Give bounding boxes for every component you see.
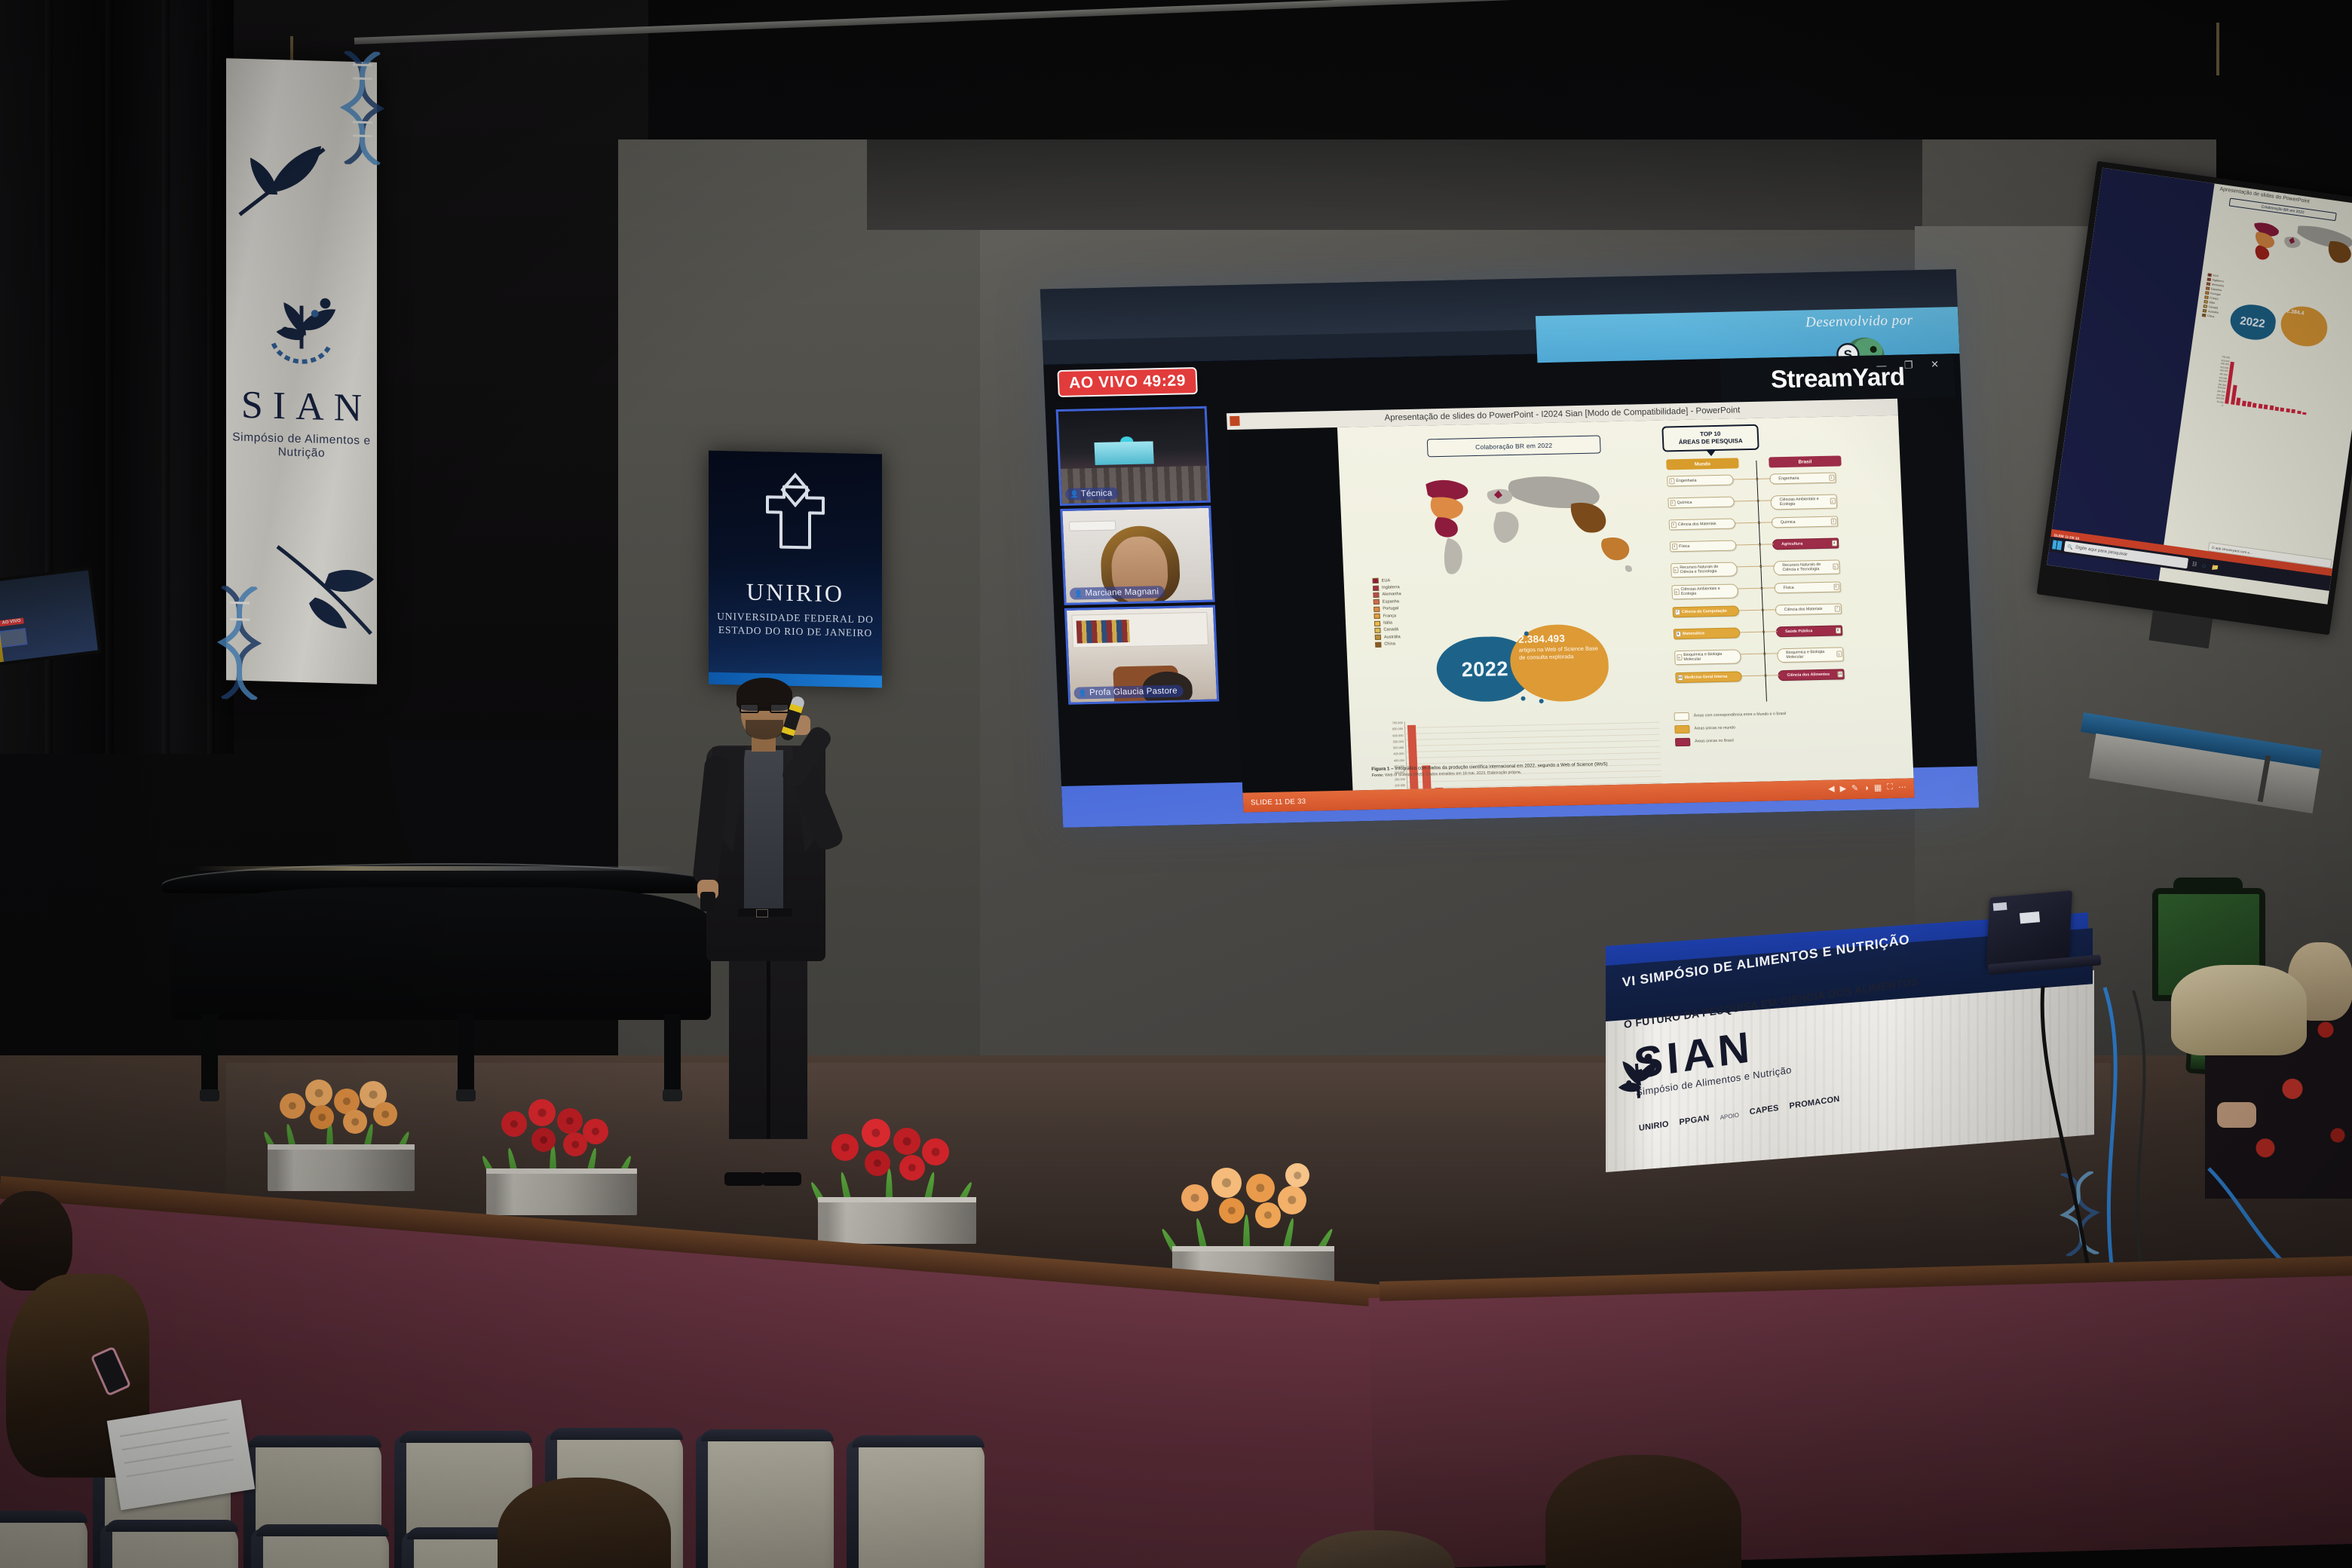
flow-node-rank: 4 — [1831, 541, 1836, 547]
flow-node-label: Ciência dos Materiais — [1678, 522, 1717, 527]
prev-slide-icon[interactable]: ◀ — [1828, 784, 1835, 794]
live-status-badge: AO VIVO 49:29 — [1057, 367, 1197, 397]
flow-link-left — [1739, 610, 1763, 611]
unirio-line2: ESTADO DO RIO DE JANEIRO — [709, 624, 882, 640]
flow-node-brasil: 7Ciência dos Materiais — [1775, 603, 1842, 615]
audience-head-right — [2171, 965, 2307, 1055]
flow-node-mundo: 1Engenharia — [1667, 475, 1734, 487]
flow-link-left — [1735, 501, 1759, 501]
armchair-crest — [2173, 877, 2243, 891]
flow-node-label: Ciência dos Materiais — [1784, 607, 1823, 612]
flow-node-label: Física — [1679, 544, 1689, 550]
article-count-blob: 2.384.493 artigos na Web of Science Base… — [1508, 623, 1609, 703]
piano-leg — [458, 1014, 474, 1092]
flow-node-rank: 9 — [1677, 654, 1682, 660]
flow-node-rank: 1 — [1669, 478, 1674, 484]
auditorium-seat[interactable] — [852, 1440, 985, 1568]
flow-node-label: Matemática — [1683, 631, 1704, 636]
planter-pot — [486, 1168, 637, 1215]
powerpoint-left-matte — [1227, 427, 1353, 793]
flow-node-label: Ciências Ambientais e Ecologia — [1779, 497, 1829, 507]
flower-planter-orange-1 — [268, 1070, 415, 1191]
audience-head-bottom-2 — [1545, 1455, 1741, 1568]
unirio-line1: UNIVERSIDADE FEDERAL DO — [709, 611, 882, 626]
flow-node-rank: 8 — [1835, 627, 1840, 633]
flow-node-label: Recursos Naturais de Ciência e Tecnologi… — [1782, 562, 1832, 573]
piano-case — [171, 887, 711, 1020]
legend-country: Itália — [2209, 301, 2215, 305]
grid-view-icon[interactable]: ▦ — [1874, 782, 1882, 792]
world-map-graphic — [1398, 460, 1644, 590]
flow-link-left — [1733, 479, 1757, 479]
confidence-monitor-left: AO VIVO — [0, 567, 101, 666]
next-slide-icon[interactable]: ▶ — [1839, 783, 1846, 793]
fullscreen-icon[interactable]: ⛶ — [1887, 782, 1893, 792]
stage-apron-right — [1368, 1272, 2352, 1568]
secondary-monitor-screen: Apresentação de slides do PowerPoint Col… — [2047, 168, 2352, 605]
piano-caster — [663, 1089, 682, 1101]
bar — [2259, 403, 2263, 409]
bar — [2302, 412, 2306, 415]
sian-banner-acronym: SIAN — [226, 382, 377, 431]
projection-screen-tripod — [2081, 596, 2329, 814]
bar — [2274, 406, 2279, 411]
auditorium-seat[interactable] — [256, 1529, 389, 1568]
bar — [2291, 409, 2295, 413]
powerpoint-app-icon — [1230, 416, 1240, 426]
flower-planter-red-1 — [486, 1095, 637, 1215]
sian-banner-subtitle: Simpósio de Alimentos e Nutrição — [226, 430, 377, 462]
flow-link-left — [1741, 675, 1766, 676]
presenter-clicker[interactable] — [700, 892, 715, 911]
flow-node-label: Engenharia — [1778, 476, 1799, 481]
auditorium-seat[interactable] — [106, 1524, 238, 1568]
legend-country: Austrália — [1384, 635, 1401, 639]
flow-column-header-mundo: Mundo — [1666, 458, 1739, 470]
flow-link-left — [1738, 588, 1762, 589]
window-controls[interactable]: — ❐ ✕ — [1876, 358, 1946, 372]
leaf-branch-icon-bottom — [273, 542, 378, 643]
legend-country: Inglaterra — [1382, 585, 1400, 590]
secondary-count-number: 2.384.4 — [2286, 308, 2326, 320]
speaker-beard — [746, 720, 783, 740]
bar — [1407, 725, 1419, 791]
flow-legend-label: Áreas únicas no mundo — [1694, 726, 1735, 732]
map-country-legend: EUA Inglaterra Alemanha Espanha Portugal… — [1372, 576, 1431, 648]
flow-node-mundo: 7Ciência da Computação — [1673, 605, 1740, 617]
participant-name-label: Técnica — [1065, 487, 1119, 501]
pen-icon[interactable]: ✎ — [1851, 783, 1859, 793]
planter-pot — [268, 1144, 415, 1191]
slide-canvas: Colaboração BR em 2022 TOP 10 ÁREAS DE P… — [1337, 415, 1914, 791]
flow-node-label: Engenharia — [1676, 478, 1696, 483]
piano-caster — [456, 1089, 476, 1101]
edge-browser-icon[interactable]: ◌ — [2202, 562, 2207, 570]
secondary-bar-series — [2225, 359, 2343, 419]
back-wall-upper-band — [867, 139, 1922, 230]
piano-leg — [201, 1014, 218, 1092]
top10-line1: TOP 10 — [1700, 430, 1721, 439]
flow-node-label: Ciência da Computação — [1682, 609, 1727, 615]
top10-line2: ÁREAS DE PESQUISA — [1679, 437, 1743, 446]
bar — [2236, 397, 2240, 406]
flow-node-rank: 4 — [1671, 544, 1677, 550]
flow-spine — [1756, 461, 1767, 702]
participant-name-label: Profa Glaucia Pastore — [1073, 684, 1184, 699]
flow-node-brasil: 1Engenharia — [1769, 473, 1836, 485]
flow-node-brasil: 2Ciências Ambientais e Ecologia — [1770, 495, 1837, 510]
flow-node-rank: 10 — [1837, 671, 1842, 677]
flow-node-rank: 9 — [1836, 651, 1842, 657]
piano-caster — [200, 1089, 219, 1101]
flow-node-rank: 6 — [1674, 589, 1679, 595]
article-count-text: artigos na Web of Science Base de consul… — [1519, 645, 1600, 661]
speaker-shoe-left — [724, 1172, 764, 1186]
flow-node-brasil: 6Física — [1774, 581, 1841, 593]
task-view-icon[interactable]: ☷ — [2192, 561, 2197, 568]
source-label: Fonte: — [1372, 773, 1384, 778]
windows-start-icon[interactable] — [2052, 540, 2063, 550]
flow-node-mundo: 3Ciência dos Materiais — [1669, 518, 1736, 530]
flow-node-rank: 7 — [1834, 605, 1839, 611]
powerpoint-presenter-controls[interactable]: ◀ ▶ ✎ ◑ ▦ ⛶ ⋯ — [1828, 782, 1906, 794]
search-placeholder: Digite aqui para pesquisar — [2075, 546, 2128, 558]
bar — [2297, 411, 2301, 414]
flow-node-rank: 1 — [1829, 475, 1834, 481]
slide-header-left: Colaboração BR em 2022 — [1427, 435, 1601, 457]
sian-hanging-banner: SIAN Simpósio de Alimentos e Nutrição — [226, 58, 377, 684]
flow-node-label: Medicina Geral Interna — [1684, 675, 1727, 681]
more-options-icon[interactable]: ⋯ — [1898, 782, 1907, 792]
powerpoint-slide-counter: SLIDE 11 DE 33 — [1251, 797, 1306, 807]
speaker-shoe-right — [762, 1172, 801, 1186]
flow-node-brasil: 3Química — [1772, 516, 1839, 528]
sian-plant-logo-icon — [257, 285, 346, 376]
unirio-acronym: UNIRIO — [709, 577, 882, 609]
country-bar-chart: 700.000 650.000 600.000 550.000 500.000 … — [1380, 716, 1664, 791]
flow-node-label: Bioquímica e Biologia Molecular — [1683, 652, 1733, 663]
shared-powerpoint-window[interactable]: Apresentação de slides do PowerPoint - I… — [1227, 399, 1915, 813]
flow-node-rank: 6 — [1833, 583, 1839, 590]
confidence-participant-tile — [0, 628, 27, 648]
bar — [2269, 406, 2274, 410]
search-icon: 🔍 — [2067, 544, 2073, 550]
grand-piano — [162, 863, 720, 1089]
flow-node-rank: 8 — [1675, 631, 1680, 637]
caption-label: Figura 1 – — [1371, 766, 1394, 772]
flow-node-label: Ciência dos Alimentos — [1787, 672, 1830, 678]
streamyard-credit-label: Desenvolvido por — [1805, 312, 1914, 331]
flower-planter-red-2 — [818, 1116, 976, 1244]
bar — [2247, 402, 2252, 407]
bar-chart-y-axis: 700.000 650.000 600.000 550.000 500.000 … — [1380, 721, 1407, 790]
flow-node-label: Física — [1783, 586, 1793, 591]
flow-node-brasil: 9Bioquímica e Biologia Molecular — [1777, 647, 1844, 663]
flow-node-rank: 2 — [1830, 498, 1835, 504]
legend-country: China — [1384, 642, 1395, 647]
flow-node-mundo: 2Química — [1668, 497, 1735, 509]
flow-link-left — [1740, 632, 1764, 632]
piano-leg — [664, 1014, 681, 1092]
flow-node-label: Química — [1677, 501, 1692, 506]
speaker-shirt — [744, 750, 783, 908]
flowchart-legend: Áreas com correspondência entre o Mundo … — [1674, 709, 1811, 751]
flow-node-brasil: 4Agricultura — [1772, 537, 1839, 550]
secondary-year-blob: 2022 — [2228, 302, 2277, 342]
planter-pot — [818, 1197, 976, 1244]
contrast-icon[interactable]: ◑ — [1864, 783, 1869, 792]
bar — [2264, 405, 2268, 410]
bar — [2242, 400, 2246, 406]
legend-country: Espanha — [1383, 599, 1399, 604]
unirio-logo-icon — [751, 468, 840, 577]
flow-node-label: Saúde Pública — [1785, 629, 1812, 634]
flow-legend-label: Áreas com correspondência entre o Mundo … — [1694, 712, 1787, 718]
participant-tile-glaucia[interactable]: Profa Glaucia Pastore — [1064, 605, 1219, 705]
legend-country: Portugal — [1383, 606, 1398, 611]
auditorium-scene: SIAN Simpósio de Alimentos e Nutrição UN… — [0, 0, 2352, 1568]
laptop-sticker-2 — [2020, 911, 2040, 923]
streamyard-word-stream: Stream — [1770, 363, 1853, 393]
flow-column-header-brasil: Brasil — [1769, 455, 1842, 467]
taskbar-icon-group[interactable]: ☷ ◌ 📁 — [2191, 560, 2219, 571]
laptop-sticker — [1993, 902, 2007, 911]
bar — [2252, 403, 2257, 408]
flow-node-rank: 5 — [1833, 564, 1838, 570]
leaf-branch-icon-top — [234, 130, 332, 223]
dna-helix-icon-lower — [213, 586, 267, 700]
flow-node-brasil: 5Recursos Naturais de Ciência e Tecnolog… — [1773, 559, 1840, 575]
auditorium-seat[interactable] — [701, 1434, 834, 1568]
flow-node-mundo: 6Ciências Ambientais e Ecologia — [1671, 583, 1738, 599]
flow-node-mundo: 8Matemática — [1674, 627, 1741, 639]
flow-link-left — [1736, 544, 1760, 545]
bar-series — [1407, 715, 1663, 791]
flow-node-brasil: 10Ciência dos Alimentos — [1778, 669, 1845, 681]
secondary-count-blob: 2.384.4 — [2278, 304, 2330, 349]
flow-node-mundo: 5Recursos Naturais de Ciência e Tecnolog… — [1671, 562, 1738, 577]
legend-country: Canadá — [1383, 628, 1398, 632]
legend-country: EUA — [1382, 578, 1391, 583]
flow-node-rank: 5 — [1673, 567, 1678, 573]
bar-chart-plot — [1404, 716, 1663, 791]
participant-name-label: Marciane Magnani — [1070, 586, 1165, 600]
projection-screen: Desenvolvido por S StreamYard — ❐ ✕ AO V… — [1040, 269, 1980, 828]
flow-node-mundo: 4Física — [1670, 540, 1737, 552]
unirio-banner: UNIRIO UNIVERSIDADE FEDERAL DO ESTADO DO… — [709, 451, 882, 688]
bar — [2280, 407, 2285, 412]
auditorium-seat[interactable] — [0, 1515, 87, 1568]
confidence-monitor-screen — [0, 570, 98, 662]
flow-node-label: Química — [1781, 520, 1796, 525]
participant-tile-tecnica[interactable]: Técnica — [1056, 406, 1211, 506]
bar — [2286, 409, 2290, 413]
laptop-lid — [1986, 890, 2072, 967]
speaker-belt — [738, 908, 792, 917]
flow-node-mundo: 10Medicina Geral Interna — [1675, 671, 1742, 683]
legend-country: Alemanha — [1382, 593, 1401, 598]
flow-link-left — [1737, 566, 1761, 567]
flow-node-rank: 10 — [1677, 675, 1683, 681]
flow-node-mundo: 9Bioquímica e Biologia Molecular — [1674, 649, 1741, 665]
banner-rope-right — [2216, 23, 2219, 75]
secondary-bar-chart: 700.000650.000600.000550.000500.000450.0… — [2206, 355, 2343, 428]
flow-node-rank: 7 — [1674, 609, 1680, 615]
dna-helix-icon — [338, 51, 387, 165]
slide-header-right: TOP 10 ÁREAS DE PESQUISA — [1661, 424, 1759, 452]
flow-node-label: Ciências Ambientais e Ecologia — [1680, 586, 1730, 597]
participant-tile-marciane[interactable]: Marciane Magnani — [1060, 506, 1214, 605]
flow-node-rank: 3 — [1671, 522, 1676, 528]
presenter-speaker — [682, 682, 856, 1180]
explorer-icon[interactable]: 📁 — [2211, 563, 2219, 571]
flow-node-rank: 2 — [1670, 500, 1675, 506]
eyeglasses-icon — [740, 703, 789, 713]
article-count-number: 2.384.493 — [1518, 632, 1599, 645]
flow-node-rank: 3 — [1830, 519, 1836, 525]
piano-lid-highlight — [192, 866, 675, 871]
participant-strip: Técnica Marciane Magnani Profa Glaucia P… — [1056, 406, 1220, 708]
flow-node-label: Bioquímica e Biologia Molecular — [1786, 650, 1836, 660]
flow-node-brasil: 8Saúde Pública — [1776, 625, 1843, 637]
table-sian-plant-icon — [1615, 1046, 1661, 1104]
presenter-laptop[interactable] — [1985, 889, 2098, 988]
secondary-world-map — [2225, 212, 2352, 289]
flow-link-left — [1741, 654, 1765, 654]
legend-country: EUA — [2213, 274, 2219, 277]
flow-legend-label: Áreas únicas no Brasil — [1695, 739, 1734, 745]
legend-country: Itália — [1383, 620, 1392, 625]
legend-country: China — [2207, 314, 2215, 318]
secondary-country-legend: EUA Inglaterra Alemanha Espanha Portugal… — [2202, 272, 2225, 320]
flow-link-left — [1735, 522, 1759, 523]
flow-node-label: Agricultura — [1781, 541, 1803, 547]
flow-node-label: Recursos Naturais de Ciência e Tecnologi… — [1680, 565, 1729, 575]
legend-country: França — [1383, 614, 1397, 618]
